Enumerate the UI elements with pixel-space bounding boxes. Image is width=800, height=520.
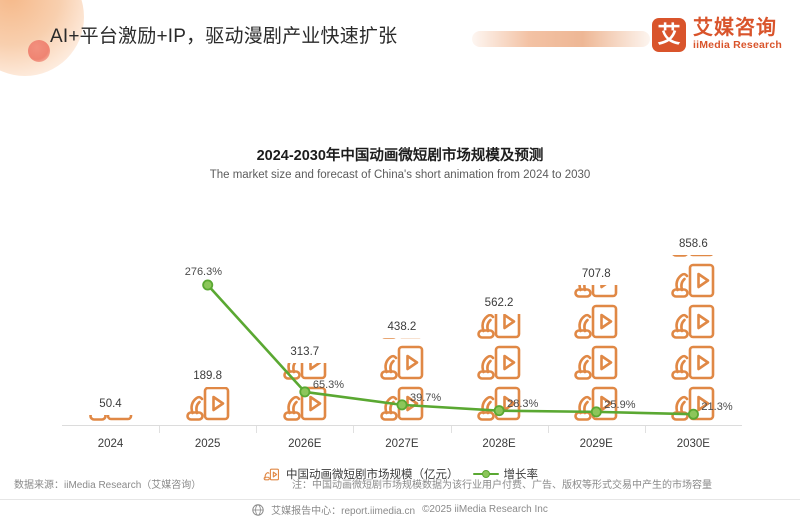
chart-title: 2024-2030年中国动画微短剧市场规模及预测 <box>0 144 800 165</box>
logo-name-en: iiMedia Research <box>693 39 782 52</box>
bar-value-label: 562.2 <box>451 297 548 309</box>
x-axis-tick <box>451 426 452 433</box>
icon-bar-stack <box>282 363 328 425</box>
chart-subtitle: The market size and forecast of China's … <box>0 169 800 181</box>
bar-value-label: 313.7 <box>256 346 353 358</box>
phone-play-icon-partial <box>88 415 134 425</box>
bar-column: 50.42024 <box>62 188 159 452</box>
growth-rate-value-label: 28.3% <box>507 398 538 410</box>
logo-name-cn: 艾媒咨询 <box>693 18 782 39</box>
bar-value-label: 858.6 <box>645 238 742 250</box>
bar-value-label: 438.2 <box>353 321 450 333</box>
x-axis-tick-label: 2030E <box>645 438 742 450</box>
plot-area: 50.42024 189.82025 313.72026E <box>62 188 742 452</box>
bar-column: 189.82025 <box>159 188 256 452</box>
bar-columns: 50.42024 189.82025 313.72026E <box>62 188 742 452</box>
growth-rate-value-label: 39.7% <box>410 392 441 404</box>
phone-play-icon-partial <box>185 387 231 425</box>
phone-play-icon <box>670 302 716 343</box>
phone-play-icon <box>670 343 716 384</box>
decorative-pill-bar <box>472 31 650 47</box>
icon-bar-stack <box>185 387 231 425</box>
brand-logo: 艾 艾媒咨询 iiMedia Research <box>652 18 782 52</box>
page-footer: 数据来源：iiMedia Research（艾媒咨询） 注：中国动画微短剧市场规… <box>0 468 800 520</box>
page-header: AI+平台激励+IP，驱动漫剧产业快速扩张 艾 艾媒咨询 iiMedia Res… <box>0 0 800 78</box>
chart-card: 2024-2030年中国动画微短剧市场规模及预测 The market size… <box>0 78 800 468</box>
x-axis-tick <box>159 426 160 433</box>
footer-note: 注：中国动画微短剧市场规模数据为该行业用户付费、广告、版权等形式交易中产生的市场… <box>292 476 712 491</box>
bar-column: 707.82029E <box>548 188 645 452</box>
x-axis-tick-label: 2028E <box>451 438 548 450</box>
bar-column: 562.22028E <box>451 188 548 452</box>
icon-bar-stack <box>670 255 716 425</box>
footer-data-source: 数据来源：iiMedia Research（艾媒咨询） <box>14 476 201 491</box>
x-axis-tick-label: 2024 <box>62 438 159 450</box>
x-axis-tick-label: 2026E <box>256 438 353 450</box>
phone-play-icon <box>379 343 425 384</box>
bar-value-label: 707.8 <box>548 268 645 280</box>
bar-value-label: 50.4 <box>62 398 159 410</box>
phone-play-icon-partial <box>670 255 716 261</box>
page-title: AI+平台激励+IP，驱动漫剧产业快速扩张 <box>50 21 397 48</box>
phone-play-icon <box>573 302 619 343</box>
footer-copyright: ©2025 iiMedia Research Inc <box>422 504 548 515</box>
phone-play-icon <box>573 343 619 384</box>
x-axis-tick <box>256 426 257 433</box>
logo-text: 艾媒咨询 iiMedia Research <box>693 18 782 52</box>
growth-rate-value-label: 21.3% <box>701 401 732 413</box>
phone-play-icon-partial <box>573 285 619 302</box>
x-axis-tick <box>645 426 646 433</box>
phone-play-icon <box>476 343 522 384</box>
phone-play-icon <box>379 384 425 425</box>
globe-icon <box>252 504 264 516</box>
footer-report-center[interactable]: 艾媒报告中心：report.iimedia.cn <box>271 502 415 517</box>
decorative-blob-small <box>28 40 50 62</box>
footer-divider <box>0 499 800 500</box>
x-axis-tick-label: 2025 <box>159 438 256 450</box>
footer-bottom-row: 艾媒报告中心：report.iimedia.cn ©2025 iiMedia R… <box>0 502 800 517</box>
x-axis-tick <box>353 426 354 433</box>
footer-top-row: 数据来源：iiMedia Research（艾媒咨询） 注：中国动画微短剧市场规… <box>0 468 800 498</box>
phone-play-icon-partial <box>476 314 522 343</box>
phone-play-icon <box>670 261 716 302</box>
growth-rate-value-label: 65.3% <box>313 379 344 391</box>
growth-rate-value-label: 276.3% <box>185 266 222 278</box>
bar-column: 313.72026E <box>256 188 353 452</box>
logo-mark-icon: 艾 <box>652 18 686 52</box>
x-axis-tick-label: 2027E <box>353 438 450 450</box>
icon-bar-stack <box>88 415 134 425</box>
bar-value-label: 189.8 <box>159 370 256 382</box>
x-axis-tick <box>548 426 549 433</box>
x-axis-tick-label: 2029E <box>548 438 645 450</box>
bar-column: 438.22027E <box>353 188 450 452</box>
growth-rate-value-label: 25.9% <box>604 399 635 411</box>
icon-bar-stack <box>379 338 425 425</box>
phone-play-icon-partial <box>379 338 425 343</box>
